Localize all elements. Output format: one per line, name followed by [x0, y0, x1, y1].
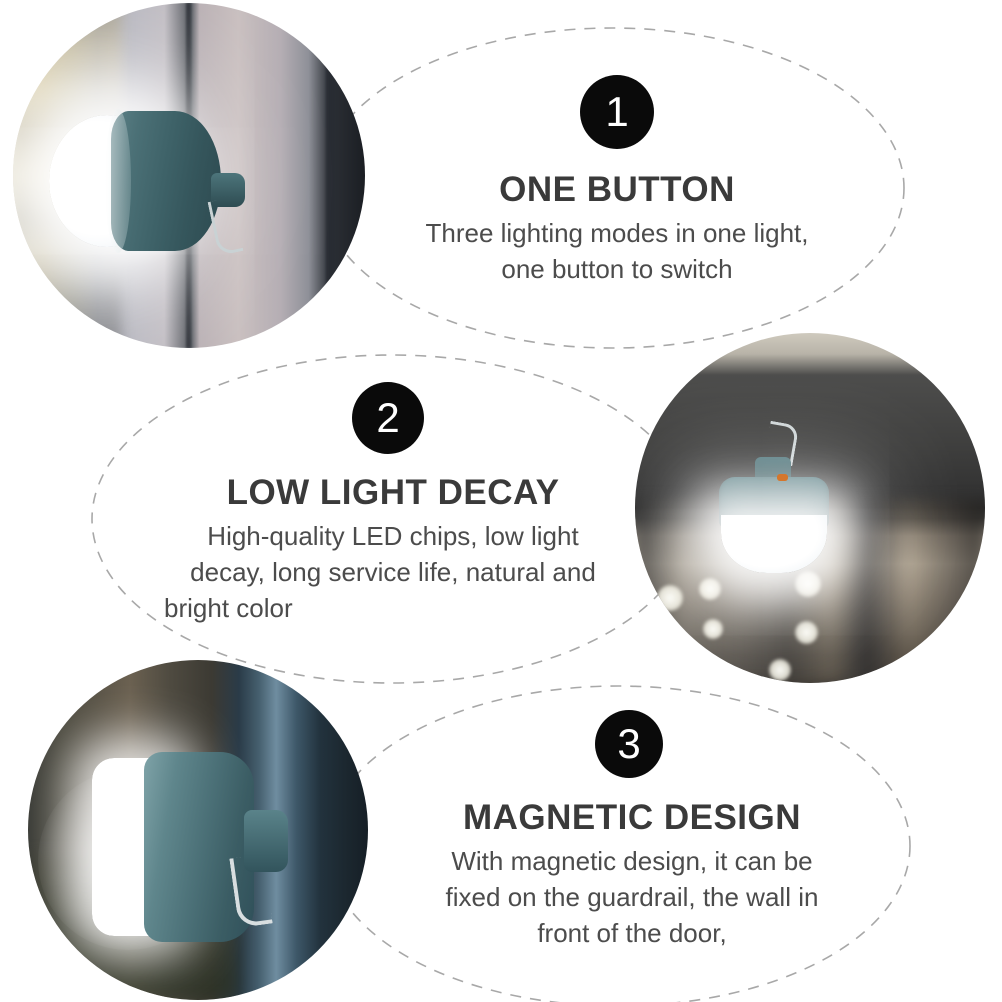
door-edge-line — [326, 3, 334, 348]
lamp-rim — [105, 109, 131, 253]
feature-desc-1-line-2: one button to switch — [370, 252, 864, 288]
feature-block-1: ONE BUTTON Three lighting modes in one l… — [370, 170, 864, 288]
step-number-badge-2: 2 — [352, 382, 424, 454]
bokeh-light — [657, 585, 683, 611]
feature-block-2: LOW LIGHT DECAY High-quality LED chips, … — [140, 473, 646, 627]
photo-lamp-on-glass-door — [13, 3, 365, 348]
feature-block-3: MAGNETIC DESIGN With magnetic design, it… — [382, 798, 882, 952]
bokeh-light — [703, 619, 723, 639]
bokeh-light — [699, 578, 721, 600]
infographic-canvas: 1 ONE BUTTON Three lighting modes in one… — [0, 0, 1002, 1002]
step-number-1: 1 — [605, 91, 628, 133]
step-number-badge-3: 3 — [595, 710, 663, 778]
feature-desc-3-line-1: With magnetic design, it can be — [382, 844, 882, 880]
lamp-indicator-light — [777, 474, 788, 481]
step-number-3: 3 — [617, 723, 640, 765]
feature-desc-2-line-1: High-quality LED chips, low light — [140, 519, 646, 555]
feature-desc-3-line-3: front of the door, — [382, 916, 882, 952]
feature-desc-2-line-2: decay, long service life, natural and — [140, 555, 646, 591]
feature-desc-1-line-1: Three lighting modes in one light, — [370, 216, 864, 252]
step-number-badge-1: 1 — [580, 75, 654, 149]
bokeh-light — [795, 621, 818, 644]
photo-lamp-hanging-on-branch — [635, 333, 985, 683]
step-number-2: 2 — [376, 397, 399, 439]
feature-desc-2-line-3: bright color — [140, 591, 646, 627]
bokeh-light — [795, 571, 821, 597]
bokeh-light — [769, 659, 791, 681]
photo-lamp-magnetic-on-post — [28, 660, 368, 1000]
feature-desc-3-line-2: fixed on the guardrail, the wall in — [382, 880, 882, 916]
feature-title-3: MAGNETIC DESIGN — [382, 798, 882, 838]
feature-title-2: LOW LIGHT DECAY — [140, 473, 646, 513]
feature-title-1: ONE BUTTON — [370, 170, 864, 210]
